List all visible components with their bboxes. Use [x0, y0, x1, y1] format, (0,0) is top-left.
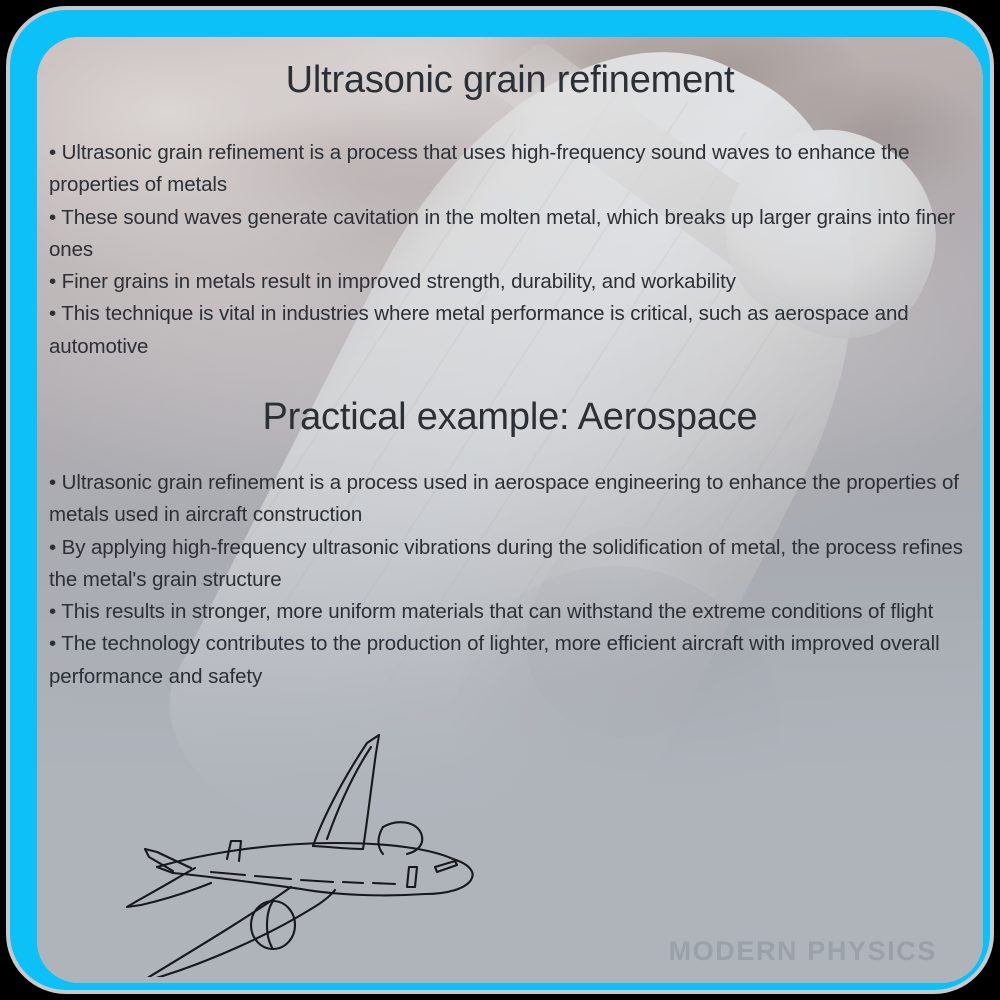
- slide-root: Ultrasonic grain refinement • Ultrasonic…: [0, 0, 1000, 1000]
- list-item: • These sound waves generate cavitation …: [49, 202, 967, 267]
- list-item: • This results in stronger, more uniform…: [49, 596, 967, 628]
- list-item: • Ultrasonic grain refinement is a proce…: [49, 137, 967, 202]
- section-heading: Practical example: Aerospace: [37, 395, 983, 441]
- airplane-sketch-icon: [95, 727, 505, 977]
- list-item: • This technique is vital in industries …: [49, 298, 967, 363]
- slide-content: Ultrasonic grain refinement • Ultrasonic…: [37, 37, 983, 983]
- intro-bullet-list: • Ultrasonic grain refinement is a proce…: [49, 137, 967, 363]
- page-title: Ultrasonic grain refinement: [37, 58, 983, 104]
- aerospace-bullet-list: • Ultrasonic grain refinement is a proce…: [49, 467, 967, 693]
- slide-card: Ultrasonic grain refinement • Ultrasonic…: [37, 37, 983, 983]
- watermark-label: MODERN PHYSICS: [669, 938, 937, 965]
- list-item: • Finer grains in metals result in impro…: [49, 266, 967, 298]
- cyan-border-frame: Ultrasonic grain refinement • Ultrasonic…: [10, 10, 990, 990]
- list-item: • The technology contributes to the prod…: [49, 628, 967, 693]
- list-item: • By applying high-frequency ultrasonic …: [49, 532, 967, 597]
- list-item: • Ultrasonic grain refinement is a proce…: [49, 467, 967, 532]
